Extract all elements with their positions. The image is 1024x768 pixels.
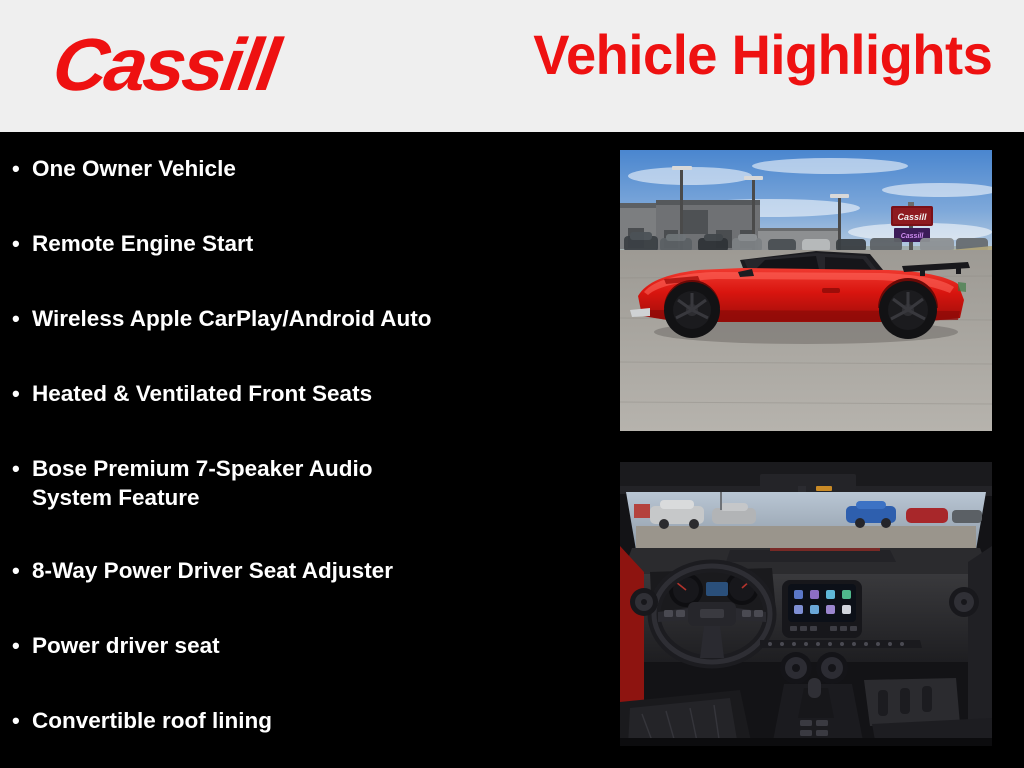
page-title: Vehicle Highlights [533, 24, 992, 86]
vehicle-highlights-slide: Cassill Vehicle Highlights • One Owner V… [0, 0, 1024, 768]
list-item-label: Heated & Ventilated Front Seats [32, 379, 592, 408]
list-item-label: 8-Way Power Driver Seat Adjuster [32, 556, 592, 585]
list-item-label: Bose Premium 7-Speaker Audio System Feat… [32, 454, 592, 512]
list-item-label: Convertible roof lining [32, 706, 592, 735]
vehicle-exterior-illustration: Cassill Cassill [620, 150, 992, 431]
list-item: • Convertible roof lining [12, 706, 592, 735]
bullet-icon: • [12, 706, 32, 735]
bullet-icon: • [12, 556, 32, 585]
bullet-icon: • [12, 379, 32, 408]
header-bar: Cassill Vehicle Highlights [0, 0, 1024, 132]
list-item-label: One Owner Vehicle [32, 154, 592, 183]
vehicle-highlights-list: • One Owner Vehicle • Remote Engine Star… [0, 132, 600, 768]
cassill-logo-text: Cassill [48, 28, 282, 102]
list-item: • Power driver seat [12, 631, 592, 660]
slide-body: • One Owner Vehicle • Remote Engine Star… [0, 132, 1024, 768]
vehicle-interior-illustration [620, 462, 992, 746]
bullet-icon: • [12, 229, 32, 258]
list-item: • Heated & Ventilated Front Seats [12, 379, 592, 408]
list-item: • One Owner Vehicle [12, 154, 592, 183]
bullet-icon: • [12, 454, 32, 483]
list-item-label: Remote Engine Start [32, 229, 592, 258]
svg-text:Cassill: Cassill [897, 212, 927, 222]
vehicle-exterior-photo: Cassill Cassill [620, 150, 992, 431]
list-item: • 8-Way Power Driver Seat Adjuster [12, 556, 592, 585]
list-item: • Wireless Apple CarPlay/Android Auto [12, 304, 592, 333]
list-item-label: Power driver seat [32, 631, 592, 660]
bullet-icon: • [12, 631, 32, 660]
list-item-label: Wireless Apple CarPlay/Android Auto [32, 304, 592, 333]
bullet-icon: • [12, 154, 32, 183]
list-item: • Bose Premium 7-Speaker Audio System Fe… [12, 454, 592, 512]
vehicle-interior-photo [620, 462, 992, 746]
svg-text:Cassill: Cassill [901, 233, 925, 240]
bullet-icon: • [12, 304, 32, 333]
list-item: • Remote Engine Start [12, 229, 592, 258]
cassill-logo: Cassill [54, 22, 354, 108]
